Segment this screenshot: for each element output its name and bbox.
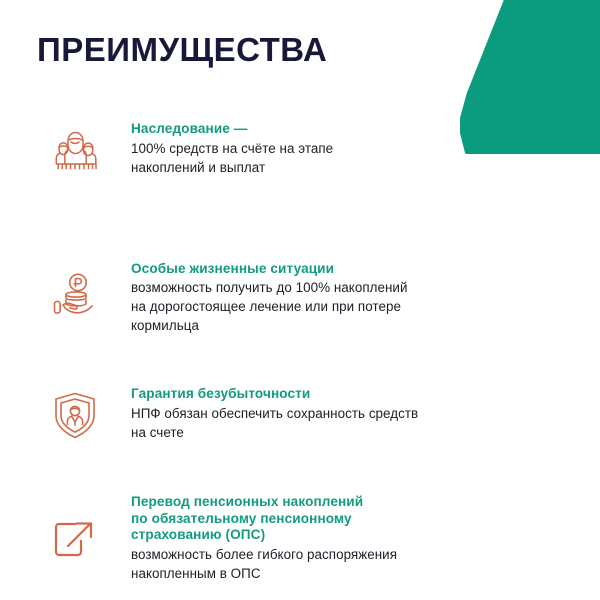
list-item: Гарантия безубыточности НПФ обязан обесп… bbox=[0, 385, 600, 442]
list-item-heading: Наследование — bbox=[131, 121, 600, 138]
list-item-text: Наследование — 100% средств на счёте на … bbox=[105, 120, 600, 177]
list-item-body: 100% средств на счёте на этапе накоплени… bbox=[131, 139, 600, 177]
list-item-text: Перевод пенсионных накоплений по обязате… bbox=[105, 493, 600, 583]
body-line: накоплений и выплат bbox=[131, 158, 600, 177]
heading-line: по обязательному пенсионному bbox=[131, 511, 600, 528]
body-line: возможность более гибкого распоряжения bbox=[131, 545, 600, 564]
list-item-text: Особые жизненные ситуации возможность по… bbox=[105, 260, 600, 336]
list-item-body: возможность более гибкого распоряжения н… bbox=[131, 545, 600, 583]
body-line: возможность получить до 100% накоплений bbox=[131, 278, 600, 297]
features-list: Наследование — 100% средств на счёте на … bbox=[0, 120, 600, 583]
list-item: Особые жизненные ситуации возможность по… bbox=[0, 260, 600, 336]
body-line: на дорогостоящее лечение или при потере bbox=[131, 297, 600, 316]
list-item: Наследование — 100% средств на счёте на … bbox=[0, 120, 600, 177]
list-item-text: Гарантия безубыточности НПФ обязан обесп… bbox=[105, 385, 600, 442]
family-group-icon bbox=[45, 128, 105, 172]
list-item-body: НПФ обязан обеспечить сохранность средст… bbox=[131, 404, 600, 442]
heading-line: Перевод пенсионных накоплений bbox=[131, 494, 600, 511]
hand-holding-ruble-coins-icon bbox=[45, 272, 105, 322]
shield-person-icon bbox=[45, 390, 105, 442]
page-title: ПРЕИМУЩЕСТВА bbox=[37, 33, 327, 68]
list-item-heading: Гарантия безубыточности bbox=[131, 386, 600, 403]
body-line: НПФ обязан обеспечить сохранность средст… bbox=[131, 404, 600, 423]
list-item-heading: Особые жизненные ситуации bbox=[131, 261, 600, 278]
body-line: 100% средств на счёте на этапе bbox=[131, 139, 600, 158]
list-item-heading: Перевод пенсионных накоплений по обязате… bbox=[131, 494, 600, 544]
body-line: на счете bbox=[131, 423, 600, 442]
list-item: Перевод пенсионных накоплений по обязате… bbox=[0, 493, 600, 583]
body-line: кормильца bbox=[131, 316, 600, 335]
list-item-body: возможность получить до 100% накоплений … bbox=[131, 278, 600, 335]
heading-line: страхованию (ОПС) bbox=[131, 527, 600, 544]
body-line: накопленным в ОПС bbox=[131, 564, 600, 583]
export-arrow-icon bbox=[45, 519, 105, 561]
